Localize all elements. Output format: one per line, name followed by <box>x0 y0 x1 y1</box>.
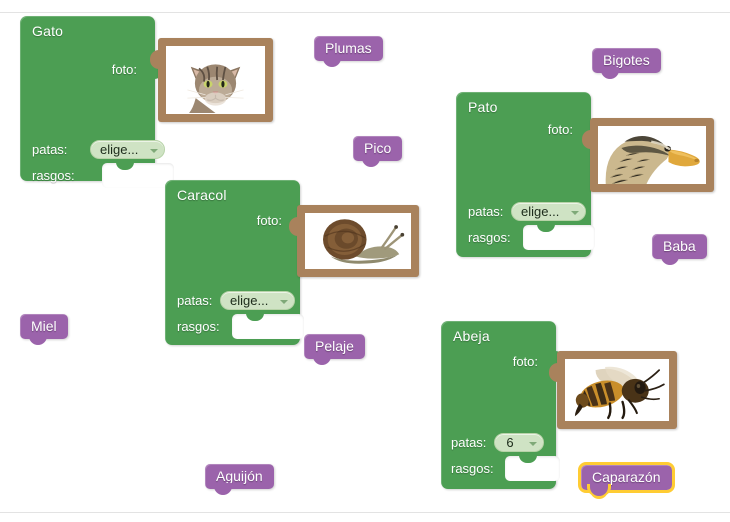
trait-block-pelaje[interactable]: Pelaje <box>304 334 365 359</box>
chevron-down-icon <box>150 149 158 153</box>
trait-block-baba[interactable]: Baba <box>652 234 707 259</box>
chevron-down-icon <box>529 442 537 446</box>
photo-block-pato[interactable] <box>590 118 714 192</box>
trait-block-caparazon[interactable]: Caparazón <box>581 465 672 490</box>
foto-label: foto: <box>112 62 137 77</box>
blocks-workspace[interactable]: Gato foto: patas: elige... rasgos: <box>0 0 730 522</box>
animal-block-caracol[interactable]: Caracol foto: patas: elige... rasgos: <box>165 180 300 345</box>
rasgos-socket-gato[interactable] <box>102 163 174 188</box>
duck-photo <box>598 126 706 184</box>
rasgos-label: rasgos: <box>177 319 220 334</box>
patas-dropdown-value: elige... <box>100 142 138 157</box>
rasgos-label: rasgos: <box>32 168 75 183</box>
rasgos-socket-abeja[interactable] <box>505 456 560 481</box>
cat-photo <box>166 46 265 114</box>
chevron-down-icon <box>571 211 579 215</box>
chevron-down-icon <box>280 300 288 304</box>
animal-block-abeja[interactable]: Abeja foto: patas: 6 rasgos: <box>441 321 556 489</box>
patas-dropdown-value: elige... <box>521 204 559 219</box>
patas-dropdown-value: 6 <box>506 435 513 450</box>
rasgos-socket-pato[interactable] <box>523 225 595 250</box>
animal-block-gato[interactable]: Gato foto: patas: elige... rasgos: <box>20 16 155 181</box>
animal-title: Caracol <box>177 187 227 203</box>
bee-photo <box>565 359 669 421</box>
patas-dropdown-abeja[interactable]: 6 <box>494 433 544 452</box>
patas-dropdown-gato[interactable]: elige... <box>90 140 165 159</box>
trait-block-miel[interactable]: Miel <box>20 314 68 339</box>
trait-block-pico[interactable]: Pico <box>353 136 402 161</box>
top-divider <box>0 12 730 13</box>
patas-dropdown-caracol[interactable]: elige... <box>220 291 295 310</box>
foto-label: foto: <box>548 122 573 137</box>
rasgos-label: rasgos: <box>468 230 511 245</box>
animal-block-pato[interactable]: Pato foto: patas: elige... rasgos: <box>456 92 591 257</box>
rasgos-label: rasgos: <box>451 461 494 476</box>
trait-block-aguijon[interactable]: Aguijón <box>205 464 274 489</box>
patas-dropdown-value: elige... <box>230 293 268 308</box>
animal-title: Gato <box>32 23 63 39</box>
patas-dropdown-pato[interactable]: elige... <box>511 202 586 221</box>
bottom-divider <box>0 512 730 513</box>
rasgos-socket-caracol[interactable] <box>232 314 304 339</box>
animal-title: Abeja <box>453 328 490 344</box>
patas-label: patas: <box>32 142 67 157</box>
photo-block-caracol[interactable] <box>297 205 419 277</box>
photo-block-abeja[interactable] <box>557 351 677 429</box>
snail-photo <box>305 213 411 269</box>
foto-label: foto: <box>513 354 538 369</box>
patas-label: patas: <box>468 204 503 219</box>
photo-block-gato[interactable] <box>158 38 273 122</box>
patas-label: patas: <box>177 293 212 308</box>
patas-label: patas: <box>451 435 486 450</box>
trait-block-bigotes[interactable]: Bigotes <box>592 48 661 73</box>
foto-label: foto: <box>257 213 282 228</box>
animal-title: Pato <box>468 99 498 115</box>
trait-block-plumas[interactable]: Plumas <box>314 36 383 61</box>
